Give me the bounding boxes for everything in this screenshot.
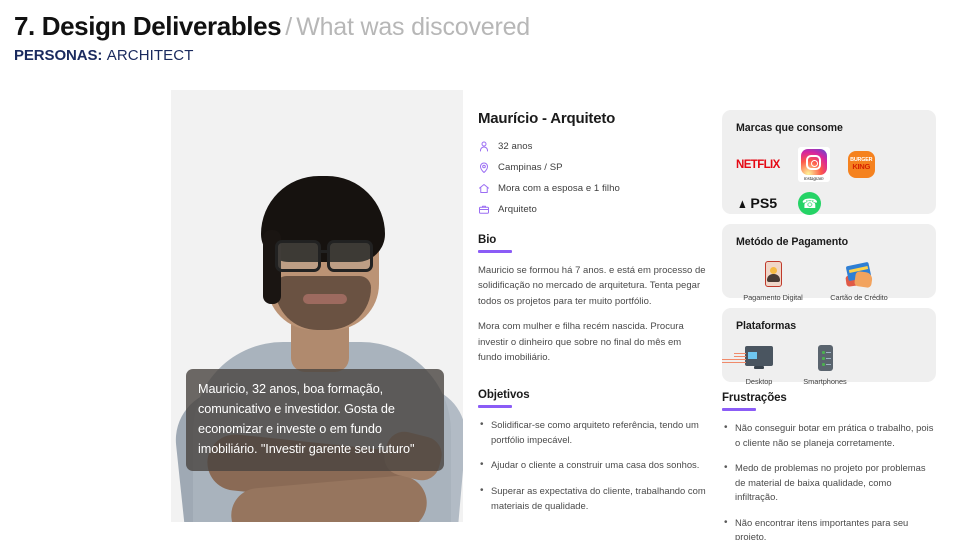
persona-details-column: Maurício - Arquiteto 32 anos Campinas / … [478, 110, 706, 524]
persona-fact-household-text: Mora com a esposa e 1 filho [498, 183, 620, 194]
payment-item-credit: Cartão de Crédito [822, 260, 896, 302]
title-subtitle: What was discovered [296, 13, 530, 41]
platform-item-smartphone-label: Smartphones [803, 377, 846, 386]
payment-card-title: Metódo de Pagamento [736, 236, 922, 248]
payment-card: Metódo de Pagamento Pagamento Digital Ca… [722, 224, 936, 298]
bio-paragraph-1: Mauricio se formou há 7 anos. e está em … [478, 263, 706, 309]
ps5-logo: ▲ PS5 [736, 196, 776, 211]
subtitle-label: PERSONAS: [14, 47, 102, 64]
list-item: Superar as expectativa do cliente, traba… [478, 484, 706, 513]
persona-cards-column: Marcas que consome NETFLIX Instagram BUR… [722, 110, 936, 540]
objetivos-section: Objetivos Solidificar-se como arquiteto … [478, 389, 706, 513]
ps5-wordmark: PS5 [750, 196, 777, 211]
brands-row-2: ▲ PS5 [736, 192, 922, 215]
photo-mouth [303, 294, 347, 304]
persona-slide: 7. Design Deliverables/What was discover… [0, 0, 960, 540]
credit-card-icon [845, 260, 873, 288]
slide-header: 7. Design Deliverables/What was discover… [14, 12, 530, 65]
list-item: Ajudar o cliente a construir uma casa do… [478, 458, 706, 473]
payment-item-credit-label: Cartão de Crédito [830, 293, 888, 302]
objetivos-underline [478, 405, 512, 408]
persona-fact-household: Mora com a esposa e 1 filho [478, 181, 706, 195]
list-item: Medo de problemas no projeto por problem… [722, 461, 936, 505]
playstation-glyph: ▲ [737, 196, 747, 211]
home-icon [478, 181, 498, 195]
photo-glasses-bridge [320, 250, 330, 253]
frustracoes-title: Frustrações [722, 392, 936, 404]
list-item: Não encontrar itens importantes para seu… [722, 516, 936, 540]
persona-fact-occupation: Arquiteto [478, 202, 706, 216]
photo-glasses-right [327, 240, 373, 272]
bio-underline [478, 250, 512, 253]
persona-fact-age-text: 32 anos [498, 141, 533, 152]
instagram-glyph [801, 149, 827, 175]
subtitle-value: ARCHITECT [107, 47, 194, 64]
bio-title: Bio [478, 234, 706, 246]
payment-item-digital: Pagamento Digital [736, 260, 810, 302]
platform-item-desktop: Desktop [736, 344, 782, 386]
page-subtitle: PERSONAS: ARCHITECT [14, 47, 530, 65]
list-item: Solidificar-se como arquiteto referência… [478, 418, 706, 447]
objetivos-list: Solidificar-se como arquiteto referência… [478, 418, 706, 513]
netflix-logo: NETFLIX [736, 159, 780, 171]
frustracoes-list: Não conseguir botar em prática o trabalh… [722, 421, 936, 540]
platform-item-smartphone: Smartphones [794, 344, 856, 386]
instagram-wordmark: Instagram [804, 176, 824, 181]
frustracoes-section: Frustrações Não conseguir botar em práti… [722, 392, 936, 540]
person-icon [478, 139, 498, 153]
platforms-card-title: Plataformas [736, 320, 922, 332]
platforms-items: Desktop Smartphones [736, 344, 922, 386]
brands-row-1: NETFLIX Instagram BURGER KING [736, 147, 922, 182]
whatsapp-logo [798, 192, 821, 215]
photo-caption: Mauricio, 32 anos, boa formação, comunic… [186, 369, 444, 471]
persona-photo: Mauricio, 32 anos, boa formação, comunic… [171, 90, 463, 522]
payment-items: Pagamento Digital Cartão de Crédito [736, 260, 922, 302]
instagram-logo: Instagram [798, 147, 830, 182]
persona-fact-occupation-text: Arquiteto [498, 204, 537, 215]
location-pin-icon [478, 160, 498, 174]
persona-fact-location: Campinas / SP [478, 160, 706, 174]
payment-item-digital-label: Pagamento Digital [743, 293, 803, 302]
burger-king-bottom: KING [852, 163, 870, 171]
brands-card-title: Marcas que consome [736, 122, 922, 134]
title-main: 7. Design Deliverables [14, 11, 281, 41]
digital-payment-icon [759, 260, 787, 288]
photo-glasses-left [275, 240, 321, 272]
persona-fact-age: 32 anos [478, 139, 706, 153]
platforms-card: Plataformas Desktop [722, 308, 936, 382]
burger-king-logo: BURGER KING [848, 151, 875, 178]
frustracoes-underline [722, 408, 756, 411]
persona-name: Maurício - Arquiteto [478, 110, 706, 127]
desktop-icon [745, 344, 773, 372]
briefcase-icon [478, 202, 498, 216]
persona-fact-location-text: Campinas / SP [498, 162, 563, 173]
objetivos-title: Objetivos [478, 389, 706, 401]
bio-section: Bio Mauricio se formou há 7 anos. e está… [478, 234, 706, 365]
smartphone-icon [811, 344, 839, 372]
title-separator: / [285, 13, 292, 41]
list-item: Não conseguir botar em prática o trabalh… [722, 421, 936, 450]
platform-item-desktop-label: Desktop [746, 377, 773, 386]
bio-paragraph-2: Mora com mulher e filha recém nascida. P… [478, 319, 706, 365]
page-title: 7. Design Deliverables/What was discover… [14, 12, 530, 41]
brands-card: Marcas que consome NETFLIX Instagram BUR… [722, 110, 936, 214]
